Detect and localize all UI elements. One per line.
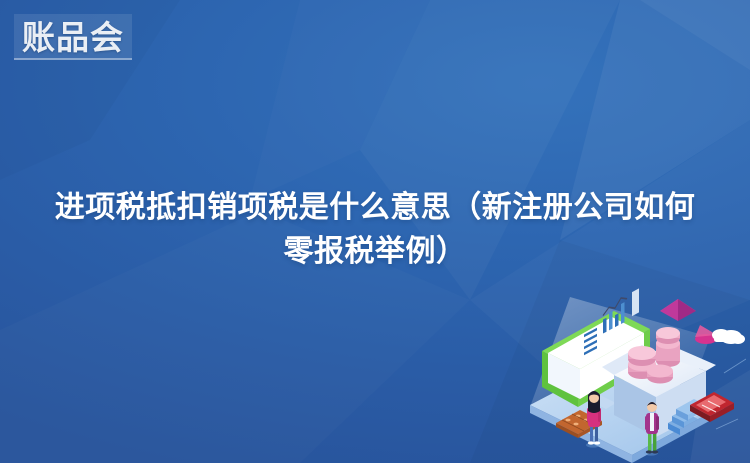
logo-text: 账品会 <box>22 21 124 54</box>
cloud <box>712 329 745 344</box>
page-title: 进项税抵扣销项税是什么意思（新注册公司如何零报税举例） <box>48 186 702 273</box>
pyramid <box>660 299 696 321</box>
isometric-finance-illustration <box>510 277 746 463</box>
site-logo[interactable]: 账品会 <box>14 14 132 60</box>
accent-lines <box>716 359 746 429</box>
article-cover-banner: 账品会 进项税抵扣销项税是什么意思（新注册公司如何零报税举例） <box>0 0 750 463</box>
